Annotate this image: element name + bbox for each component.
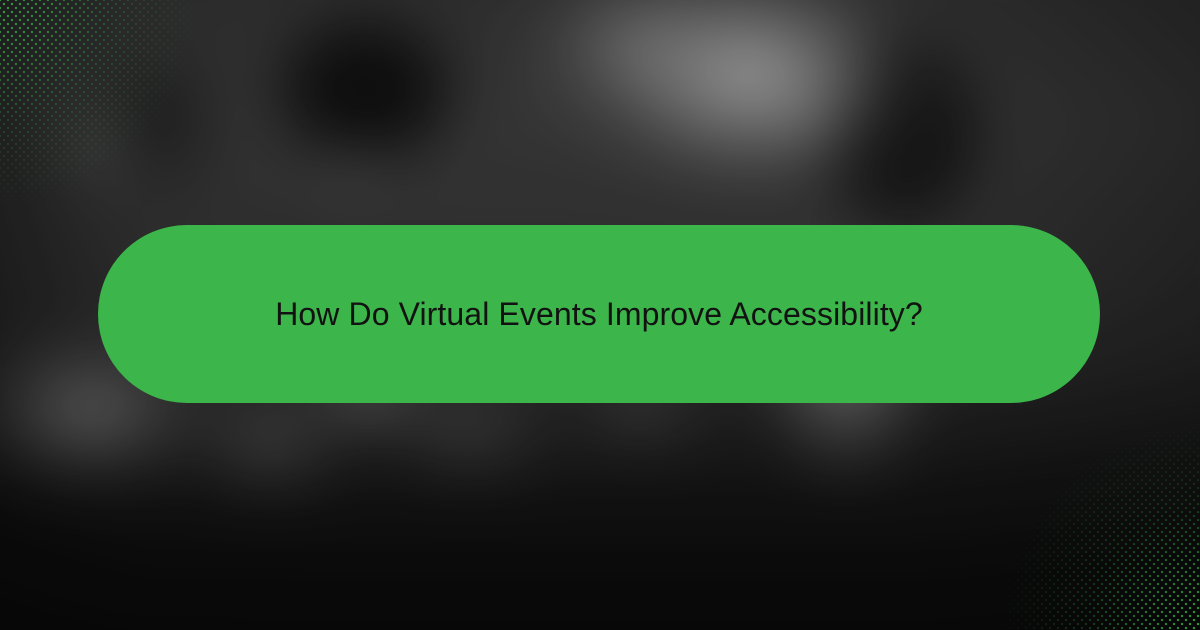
dot-grid-top-left-decoration (0, 0, 230, 250)
social-card-canvas: How Do Virtual Events Improve Accessibil… (0, 0, 1200, 630)
title-pill-banner: How Do Virtual Events Improve Accessibil… (98, 225, 1100, 403)
dot-grid-bottom-right-decoration (970, 380, 1200, 630)
page-title: How Do Virtual Events Improve Accessibil… (275, 295, 923, 333)
